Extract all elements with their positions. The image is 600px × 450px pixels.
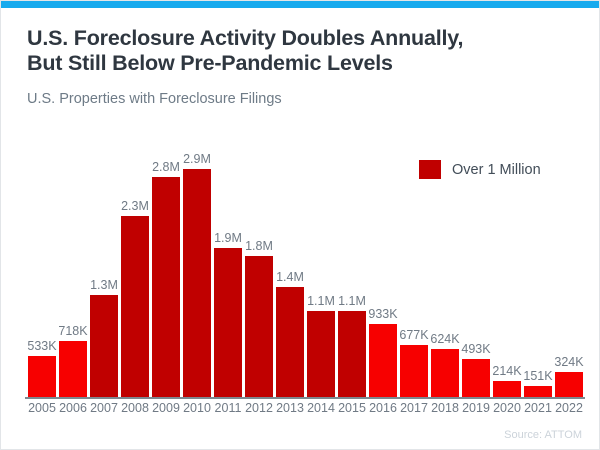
- bar-value-label: 1.3M: [90, 278, 118, 292]
- bar-value-label: 214K: [492, 364, 521, 378]
- bar[interactable]: [493, 381, 521, 398]
- bar[interactable]: [307, 311, 335, 398]
- bar[interactable]: [121, 216, 149, 398]
- bar-group: 2.3M: [121, 131, 149, 398]
- bar-group: 1.1M: [307, 131, 335, 398]
- bar[interactable]: [245, 256, 273, 398]
- bar-value-label: 151K: [523, 369, 552, 383]
- x-axis-label-2022: 2022: [551, 401, 587, 415]
- bar-group: 1.8M: [245, 131, 273, 398]
- x-axis-line: [25, 397, 585, 399]
- bar-group: 214K: [493, 131, 521, 398]
- x-axis-tick-labels: 2005200620072008200920102011201220132014…: [25, 401, 585, 419]
- bar-value-label: 533K: [27, 339, 56, 353]
- bar-value-label: 1.9M: [214, 231, 242, 245]
- bar-group: 677K: [400, 131, 428, 398]
- bar-value-label: 624K: [430, 332, 459, 346]
- bar-group: 624K: [431, 131, 459, 398]
- bar-group: 1.1M: [338, 131, 366, 398]
- bar-group: 533K: [28, 131, 56, 398]
- bar[interactable]: [152, 177, 180, 398]
- bar-value-label: 2.3M: [121, 199, 149, 213]
- bar-value-label: 933K: [368, 307, 397, 321]
- bar-group: 1.3M: [90, 131, 118, 398]
- bar[interactable]: [462, 359, 490, 398]
- bar[interactable]: [214, 248, 242, 398]
- bar[interactable]: [28, 356, 56, 398]
- bar-value-label: 677K: [399, 328, 428, 342]
- bar-value-label: 2.9M: [183, 152, 211, 166]
- bar-group: 2.8M: [152, 131, 180, 398]
- bar[interactable]: [431, 349, 459, 398]
- bar-group: 933K: [369, 131, 397, 398]
- bar-group: 1.4M: [276, 131, 304, 398]
- bar[interactable]: [183, 169, 211, 398]
- bar-value-label: 1.1M: [338, 294, 366, 308]
- bar[interactable]: [555, 372, 583, 398]
- bar-value-label: 1.8M: [245, 239, 273, 253]
- bar-group: 1.9M: [214, 131, 242, 398]
- bar-value-label: 324K: [554, 355, 583, 369]
- bar-group: 151K: [524, 131, 552, 398]
- bar-group: 2.9M: [183, 131, 211, 398]
- bar-group: 718K: [59, 131, 87, 398]
- bar-value-label: 718K: [58, 324, 87, 338]
- bar-value-label: 1.4M: [276, 270, 304, 284]
- bar[interactable]: [59, 341, 87, 398]
- bar-chart-plot-area: 533K718K1.3M2.3M2.8M2.9M1.9M1.8M1.4M1.1M…: [25, 131, 585, 398]
- bar[interactable]: [400, 345, 428, 398]
- chart-card: U.S. Foreclosure Activity Doubles Annual…: [0, 0, 600, 450]
- bar-value-label: 493K: [461, 342, 490, 356]
- bar-value-label: 1.1M: [307, 294, 335, 308]
- bar-value-label: 2.8M: [152, 160, 180, 174]
- bar-group: 324K: [555, 131, 583, 398]
- bar[interactable]: [276, 287, 304, 398]
- source-attribution: Source: ATTOM: [504, 429, 582, 441]
- bar[interactable]: [338, 311, 366, 398]
- page-title: U.S. Foreclosure Activity Doubles Annual…: [27, 26, 572, 76]
- top-accent-bar: [1, 1, 600, 8]
- chart-subtitle: U.S. Properties with Foreclosure Filings: [27, 91, 282, 107]
- bar[interactable]: [369, 324, 397, 398]
- bar[interactable]: [90, 295, 118, 398]
- bar-group: 493K: [462, 131, 490, 398]
